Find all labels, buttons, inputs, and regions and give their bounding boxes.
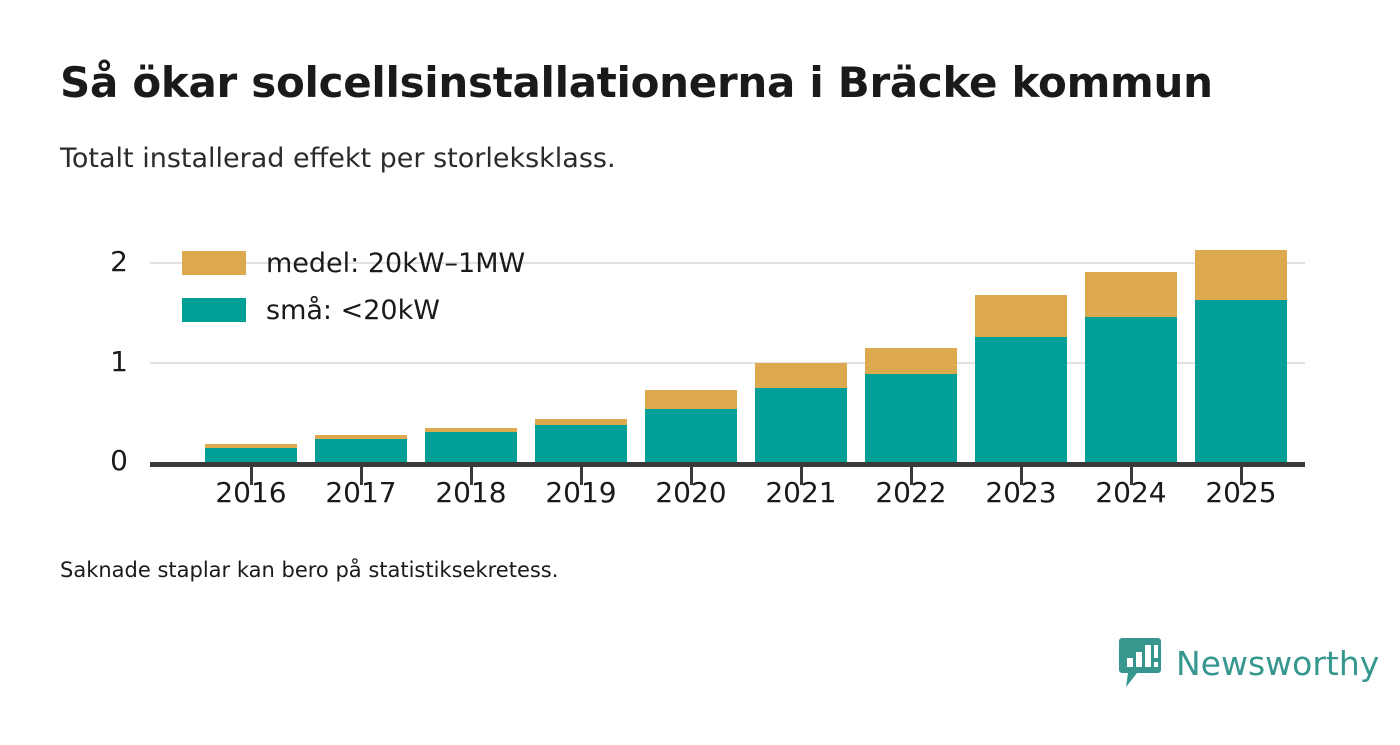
chart-footnote: Saknade staplar kan bero på statistiksek… [60, 558, 558, 582]
bar-group-2016[interactable] [205, 444, 297, 462]
bar-segment-small[interactable] [1195, 300, 1287, 462]
bar-segment-medium[interactable] [1195, 250, 1287, 300]
bar-segment-medium[interactable] [865, 348, 957, 375]
legend-label: medel: 20kW–1MW [266, 248, 525, 279]
bar-segment-small[interactable] [755, 388, 847, 462]
bar-group-2019[interactable] [535, 419, 627, 462]
bar-group-2017[interactable] [315, 435, 407, 462]
bar-segment-small[interactable] [315, 439, 407, 462]
stacked-bar-chart: 012 201620172018201920202021202220232024… [0, 0, 1400, 745]
x-axis-label-2025: 2025 [1171, 476, 1311, 509]
newsworthy-logo[interactable]: Newsworthy [1118, 637, 1379, 689]
newsworthy-bar-chart-bubble-icon [1118, 637, 1162, 689]
legend-item-0[interactable]: medel: 20kW–1MW [182, 243, 525, 283]
legend-swatch [182, 298, 246, 322]
bars-layer [0, 0, 1400, 745]
legend-item-1[interactable]: små: <20kW [182, 290, 525, 330]
newsworthy-wordmark: Newsworthy [1176, 644, 1379, 683]
bar-segment-medium[interactable] [1085, 272, 1177, 317]
bar-segment-medium[interactable] [975, 295, 1067, 337]
bar-group-2018[interactable] [425, 428, 517, 462]
bar-segment-small[interactable] [975, 337, 1067, 462]
bar-segment-medium[interactable] [645, 390, 737, 409]
bar-segment-small[interactable] [865, 374, 957, 462]
bar-group-2021[interactable] [755, 363, 847, 463]
bar-segment-medium[interactable] [755, 363, 847, 389]
bar-segment-small[interactable] [535, 425, 627, 462]
bar-group-2025[interactable] [1195, 250, 1287, 462]
bar-segment-small[interactable] [1085, 317, 1177, 462]
chart-page: Så ökar solcellsinstallationerna i Bräck… [0, 0, 1400, 745]
bar-group-2020[interactable] [645, 390, 737, 462]
chart-legend: medel: 20kW–1MWsmå: <20kW [182, 243, 525, 337]
bar-group-2023[interactable] [975, 295, 1067, 462]
bar-group-2024[interactable] [1085, 272, 1177, 462]
bar-segment-small[interactable] [425, 432, 517, 462]
bar-segment-small[interactable] [205, 448, 297, 462]
bar-group-2022[interactable] [865, 348, 957, 462]
legend-swatch [182, 251, 246, 275]
bar-segment-small[interactable] [645, 409, 737, 462]
legend-label: små: <20kW [266, 295, 440, 326]
